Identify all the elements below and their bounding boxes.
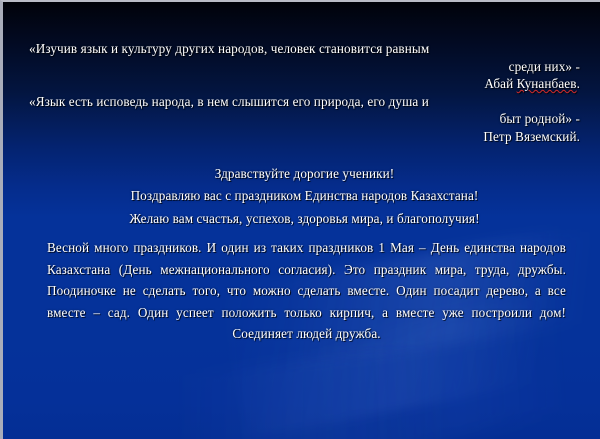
quote-attribution: Петр Вяземский. (29, 128, 580, 146)
greeting-line: Желаю вам счастья, успехов, здоровья мир… (29, 208, 580, 231)
background-sheen-band (148, 339, 489, 439)
attribution-suffix: . (577, 76, 580, 91)
slide-content: «Изучив язык и культуру других народов, … (3, 2, 600, 345)
quote-attribution: Абай Кунанбаев. (29, 75, 580, 93)
greeting-block: Здравствуйте дорогие ученики! Поздравляю… (29, 163, 580, 231)
body-paragraph: Весной много праздников. И один из таких… (29, 237, 580, 345)
quote-line: быт родной» - (29, 110, 580, 128)
greeting-line: Поздравляю вас с праздником Единства нар… (29, 185, 580, 208)
presentation-slide: «Изучив язык и культуру других народов, … (0, 0, 600, 439)
attribution-text: Абай (484, 76, 516, 91)
quote-line: «Язык есть исповедь народа, в нем слышит… (29, 93, 580, 111)
quote-block-1: «Изучив язык и культуру других народов, … (29, 40, 580, 93)
quote-line: среди них» - (29, 58, 580, 76)
greeting-line: Здравствуйте дорогие ученики! (29, 163, 580, 186)
misspelled-word: Кунанбаев (517, 76, 577, 91)
quote-block-2: «Язык есть исповедь народа, в нем слышит… (29, 93, 580, 146)
quote-line: «Изучив язык и культуру других народов, … (29, 40, 580, 58)
